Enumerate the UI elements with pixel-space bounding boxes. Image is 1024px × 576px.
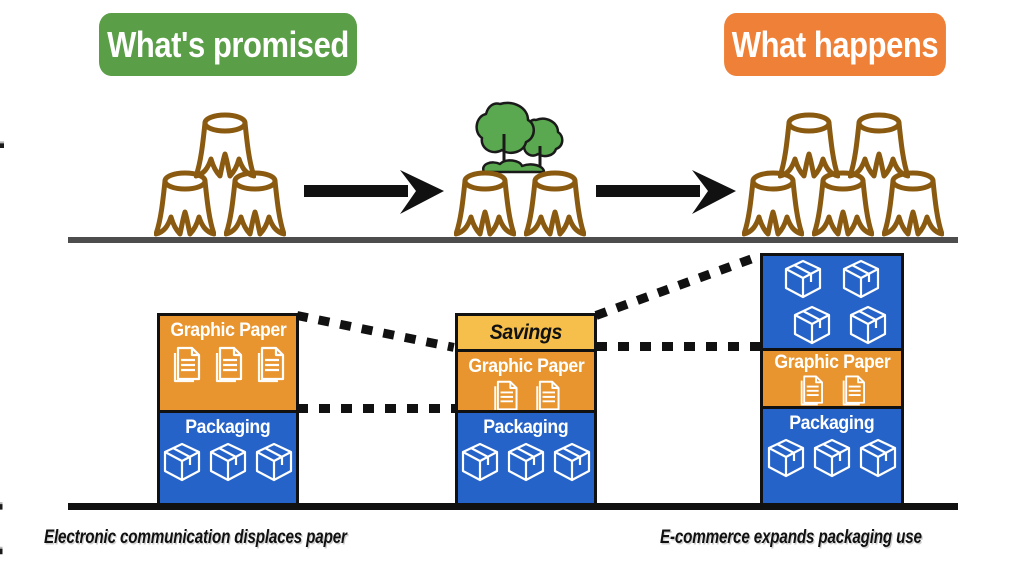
segment-graphic-paper: Graphic Paper	[458, 349, 594, 410]
badge-whats-promised: What's promised	[99, 13, 357, 76]
segment-graphic-paper: Graphic Paper	[160, 316, 296, 410]
icon-row-document-stack	[160, 344, 296, 384]
tree-stump-icon	[524, 170, 586, 238]
segment-savings: Savings	[458, 316, 594, 349]
segment-packaging: Packaging	[160, 410, 296, 509]
package-box-icon	[506, 441, 546, 483]
document-stack-icon	[168, 344, 204, 384]
package-box-icon	[208, 441, 248, 483]
document-stack-icon	[837, 373, 869, 406]
icon-row-package-box	[458, 441, 594, 483]
package-box-icon	[162, 441, 202, 483]
document-stack-icon	[210, 344, 246, 384]
tree-stump-icon	[882, 170, 944, 238]
document-stack-icon	[795, 373, 827, 406]
segment-label: Savings	[490, 322, 562, 344]
segment-packaging: Packaging	[458, 410, 594, 509]
package-box-icon	[848, 304, 888, 346]
document-stack-icon	[489, 378, 521, 410]
document-stack-icon	[531, 378, 563, 410]
bar-right: Graphic Paper Packaging	[760, 253, 904, 506]
package-box-icon	[552, 441, 592, 483]
icon-row-package-box	[763, 258, 901, 346]
tree-stump-icon	[224, 170, 286, 238]
chart-baseline	[68, 503, 958, 510]
package-box-icon	[841, 258, 881, 300]
segment-label: Graphic Paper	[774, 353, 890, 373]
axis-label-paper-use: paper use	[0, 377, 4, 557]
segment-label: Packaging	[483, 418, 568, 438]
document-stack-icon	[252, 344, 288, 384]
badge-what-happens: What happens	[724, 13, 946, 76]
tree-stump-icon	[742, 170, 804, 238]
stump-group-middle	[452, 170, 592, 238]
connector-graphic-paper-middle-to-right	[594, 253, 757, 320]
arrow-right-icon	[304, 170, 444, 219]
segment-label: Graphic Paper	[468, 357, 584, 377]
stump-group-left	[152, 112, 292, 238]
tree-stump-icon	[454, 170, 516, 238]
arrow-right-icon	[596, 170, 736, 219]
package-box-icon	[858, 437, 898, 479]
segment-graphic-paper: Graphic Paper	[763, 348, 901, 406]
icon-row-package-box	[763, 437, 901, 479]
segment-label: Packaging	[185, 418, 270, 438]
infographic-canvas: What's promised What happens forest impa…	[0, 0, 1024, 576]
bar-middle: Savings Graphic Paper Packaging	[455, 313, 597, 506]
caption-right: E-commerce expands packaging use	[660, 527, 922, 549]
icon-row-document-stack	[763, 373, 901, 406]
segment-label: Graphic Paper	[170, 321, 286, 341]
connector-packaging-left-to-middle	[297, 404, 457, 413]
connector-graphic-paper-left-to-middle	[296, 311, 455, 352]
tree-stump-icon	[154, 170, 216, 238]
package-box-icon	[812, 437, 852, 479]
package-box-icon	[766, 437, 806, 479]
package-box-icon	[254, 441, 294, 483]
badge-promised-label: What's promised	[107, 24, 349, 66]
icon-row-document-stack	[458, 378, 594, 410]
stump-group-right	[742, 112, 954, 238]
bar-left: Graphic Paper Packaging	[157, 313, 299, 506]
axis-label-forest-impact: forest impact	[0, 85, 6, 286]
segment-label: Packaging	[789, 414, 874, 434]
package-box-icon	[792, 304, 832, 346]
connector-packaging-middle-to-right	[596, 342, 762, 351]
caption-left: Electronic communication displaces paper	[44, 527, 347, 549]
badge-happens-label: What happens	[732, 24, 938, 66]
segment-extra-packaging	[763, 256, 901, 348]
package-box-icon	[783, 258, 823, 300]
icon-row-package-box	[160, 441, 296, 483]
tree-stump-icon	[812, 170, 874, 238]
segment-packaging: Packaging	[763, 406, 901, 505]
package-box-icon	[460, 441, 500, 483]
